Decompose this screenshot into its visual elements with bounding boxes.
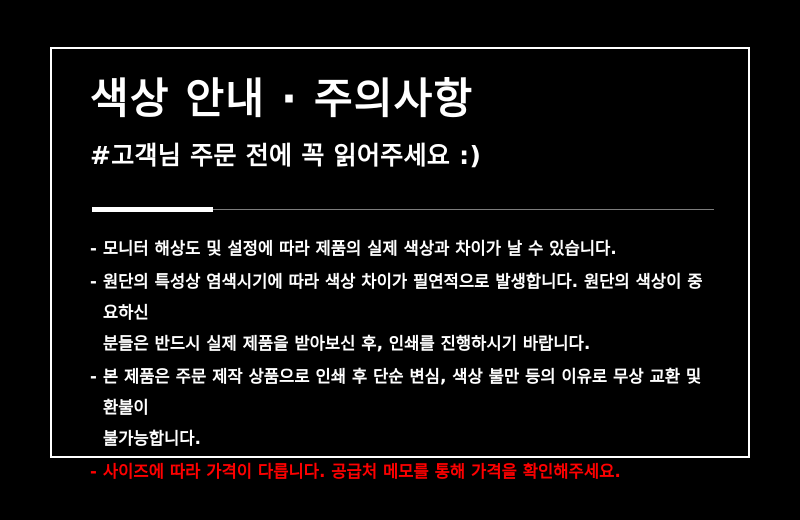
bullet-dash-icon: - [90, 233, 97, 264]
page-title: 색상 안내 · 주의사항 [90, 75, 473, 122]
divider-thin-segment [213, 209, 714, 210]
notice-banner: 색상 안내 · 주의사항 #고객님 주문 전에 꼭 읽어주세요 :) - 모니터… [0, 0, 800, 520]
list-item-line: 모니터 해상도 및 설정에 따라 제품의 실제 색상과 차이가 날 수 있습니다… [103, 233, 712, 264]
page-subtitle: #고객님 주문 전에 꼭 읽어주세요 :) [90, 141, 481, 171]
list-item-highlighted: - 사이즈에 따라 가격이 다릅니다. 공급처 메모를 통해 가격을 확인해주세… [90, 456, 712, 487]
list-item: - 원단의 특성상 염색시기에 따라 색상 차이가 필연적으로 발생합니다. 원… [90, 266, 712, 359]
notice-list: - 모니터 해상도 및 설정에 따라 제품의 실제 색상과 차이가 날 수 있습… [90, 233, 712, 489]
list-item-line: 본 제품은 주문 제작 상품으로 인쇄 후 단순 변심, 색상 불만 등의 이유… [103, 361, 712, 423]
bullet-dash-icon: - [90, 456, 97, 487]
divider [92, 207, 714, 212]
bullet-dash-icon: - [90, 361, 97, 392]
notice-content: 색상 안내 · 주의사항 #고객님 주문 전에 꼭 읽어주세요 :) - 모니터… [90, 49, 712, 456]
list-item-line-continued: 불가능합니다. [103, 423, 712, 454]
list-item: - 본 제품은 주문 제작 상품으로 인쇄 후 단순 변심, 색상 불만 등의 … [90, 361, 712, 454]
list-item-line-continued: 분들은 반드시 실제 제품을 받아보신 후, 인쇄를 진행하시기 바랍니다. [103, 328, 712, 359]
notice-frame: 색상 안내 · 주의사항 #고객님 주문 전에 꼭 읽어주세요 :) - 모니터… [50, 47, 750, 458]
list-item-line: 원단의 특성상 염색시기에 따라 색상 차이가 필연적으로 발생합니다. 원단의… [103, 266, 712, 328]
list-item: - 모니터 해상도 및 설정에 따라 제품의 실제 색상과 차이가 날 수 있습… [90, 233, 712, 264]
list-item-line: 사이즈에 따라 가격이 다릅니다. 공급처 메모를 통해 가격을 확인해주세요. [103, 456, 712, 487]
divider-strong-segment [92, 207, 213, 212]
bullet-dash-icon: - [90, 266, 97, 297]
